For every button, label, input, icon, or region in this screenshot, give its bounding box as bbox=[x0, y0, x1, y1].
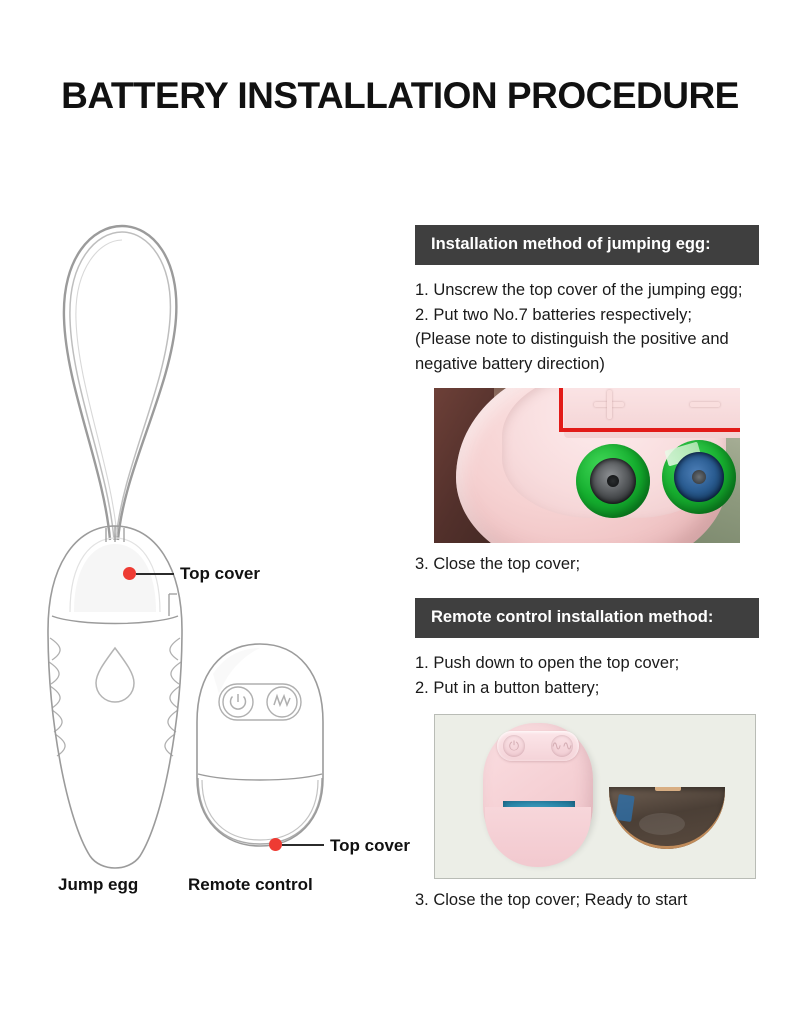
egg-top-cover-callout-dot bbox=[123, 567, 136, 580]
section-heading-jumping-egg: Installation method of jumping egg: bbox=[415, 225, 759, 265]
remote-control-caption: Remote control bbox=[188, 875, 313, 895]
step-line: 1. Push down to open the top cover; bbox=[415, 651, 775, 676]
remote-top-cover-callout-line bbox=[282, 844, 324, 846]
remote-control-illustration bbox=[185, 638, 335, 853]
power-button-icon bbox=[231, 694, 246, 709]
removed-battery-cover bbox=[609, 787, 725, 849]
remote-top-cover-callout-dot bbox=[269, 838, 282, 851]
section-closing-step-jumping-egg: 3. Close the top cover; bbox=[415, 552, 775, 576]
product-diagram: Top cover Top cover Jump egg Remote cont… bbox=[0, 200, 400, 920]
battery-compartment-photo bbox=[434, 388, 740, 543]
polarity-highlight-box bbox=[559, 388, 740, 432]
page-title: BATTERY INSTALLATION PROCEDURE bbox=[0, 75, 800, 117]
battery-right bbox=[662, 440, 736, 514]
section-heading-remote-control: Remote control installation method: bbox=[415, 598, 759, 638]
power-button-icon: ⏻ bbox=[503, 735, 525, 757]
instructions-column: Installation method of jumping egg: 1. U… bbox=[415, 225, 775, 912]
battery-left bbox=[576, 444, 650, 518]
step-line: 2. Put two No.7 batteries respectively; bbox=[415, 303, 775, 328]
step-line: negative battery direction) bbox=[415, 352, 775, 377]
step-line: (Please note to distinguish the positive… bbox=[415, 327, 775, 352]
section-steps-remote-control: 1. Push down to open the top cover; 2. P… bbox=[415, 651, 775, 700]
egg-top-cover-callout-label: Top cover bbox=[180, 564, 260, 584]
jump-egg-illustration bbox=[30, 520, 200, 880]
teardrop-emblem-icon bbox=[96, 648, 134, 702]
remote-battery-photo: ⏻ ∿∿ 2032 bbox=[434, 714, 756, 879]
remote-top-cover-callout-label: Top cover bbox=[330, 836, 410, 856]
jump-egg-caption: Jump egg bbox=[58, 875, 138, 895]
egg-top-cover-callout-line bbox=[136, 573, 174, 575]
section-closing-step-remote-control: 3. Close the top cover; Ready to start bbox=[415, 888, 775, 912]
mode-wave-button-icon bbox=[274, 696, 290, 705]
mode-wave-button-icon: ∿∿ bbox=[551, 735, 573, 757]
section-steps-jumping-egg: 1. Unscrew the top cover of the jumping … bbox=[415, 278, 775, 376]
poster-page: BATTERY INSTALLATION PROCEDURE bbox=[0, 0, 800, 1012]
step-line: 2. Put in a button battery; bbox=[415, 676, 775, 701]
pull-cord-loop-icon bbox=[48, 218, 208, 548]
step-line: 1. Unscrew the top cover of the jumping … bbox=[415, 278, 775, 303]
